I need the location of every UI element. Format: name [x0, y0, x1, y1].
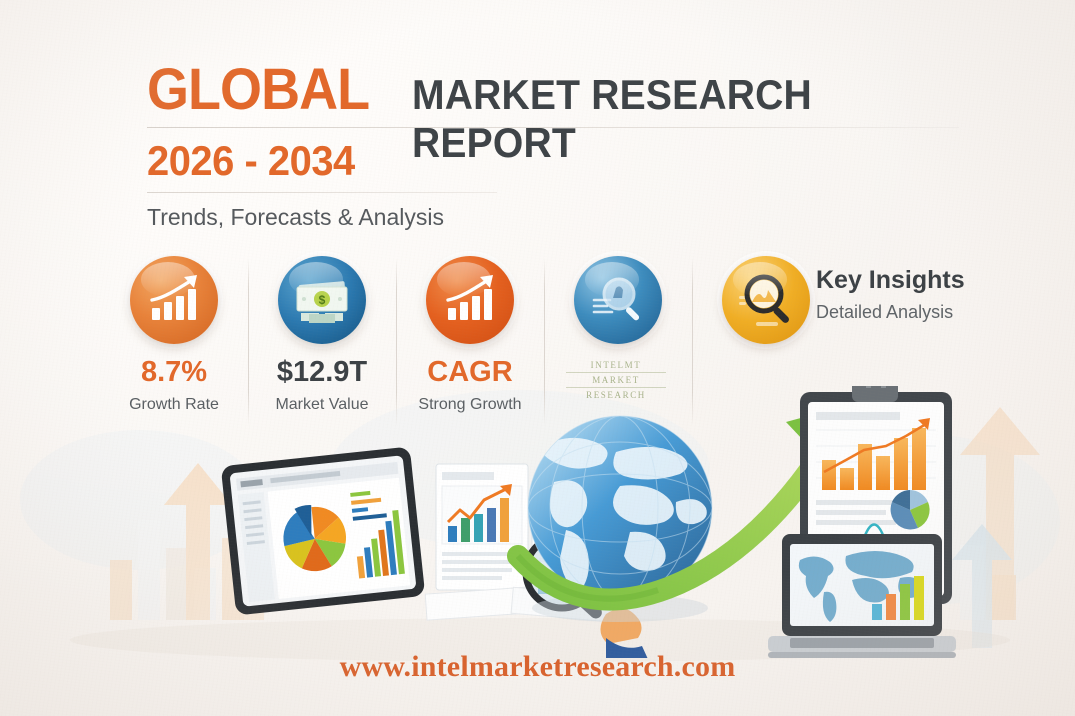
year-range: 2026 - 2034: [147, 137, 918, 185]
kpi-value: $12.9T: [277, 358, 367, 387]
footer-url-text: www.intelmarketresearch.com: [340, 650, 736, 683]
title-highlight: GLOBAL: [147, 56, 369, 123]
magnifier-report-icon: [574, 256, 662, 344]
subtitle: Trends, Forecasts & Analysis: [147, 204, 959, 231]
header: GLOBAL MARKET RESEARCH REPORT 2026 - 203…: [147, 56, 959, 231]
laptop-world-map-illustration: [768, 534, 956, 658]
kpi-value: CAGR: [427, 358, 512, 387]
bar-chart-growth-icon: [426, 256, 514, 344]
main-illustration: [0, 386, 1075, 658]
key-insights-subtitle: Detailed Analysis: [816, 302, 965, 323]
year-divider: [147, 192, 497, 193]
watermark-line-1: INTELMT: [566, 358, 666, 372]
tablet-illustration: [221, 446, 426, 615]
key-insights-block: Key Insights Detailed Analysis: [816, 266, 965, 323]
money-banknote-icon: $: [278, 256, 366, 344]
bar-chart-growth-icon: [130, 256, 218, 344]
page-title: GLOBAL MARKET RESEARCH REPORT: [147, 56, 959, 118]
watermark-line-2: MARKET: [566, 372, 666, 387]
footer-url[interactable]: www.intelmarketresearch.com: [0, 650, 1075, 684]
magnifier-insight-icon: [722, 256, 810, 344]
kpi-value: 8.7%: [141, 358, 207, 387]
svg-text:$: $: [319, 293, 326, 307]
poster-canvas: GLOBAL MARKET RESEARCH REPORT 2026 - 203…: [0, 0, 1075, 716]
key-insights-title: Key Insights: [816, 266, 965, 295]
